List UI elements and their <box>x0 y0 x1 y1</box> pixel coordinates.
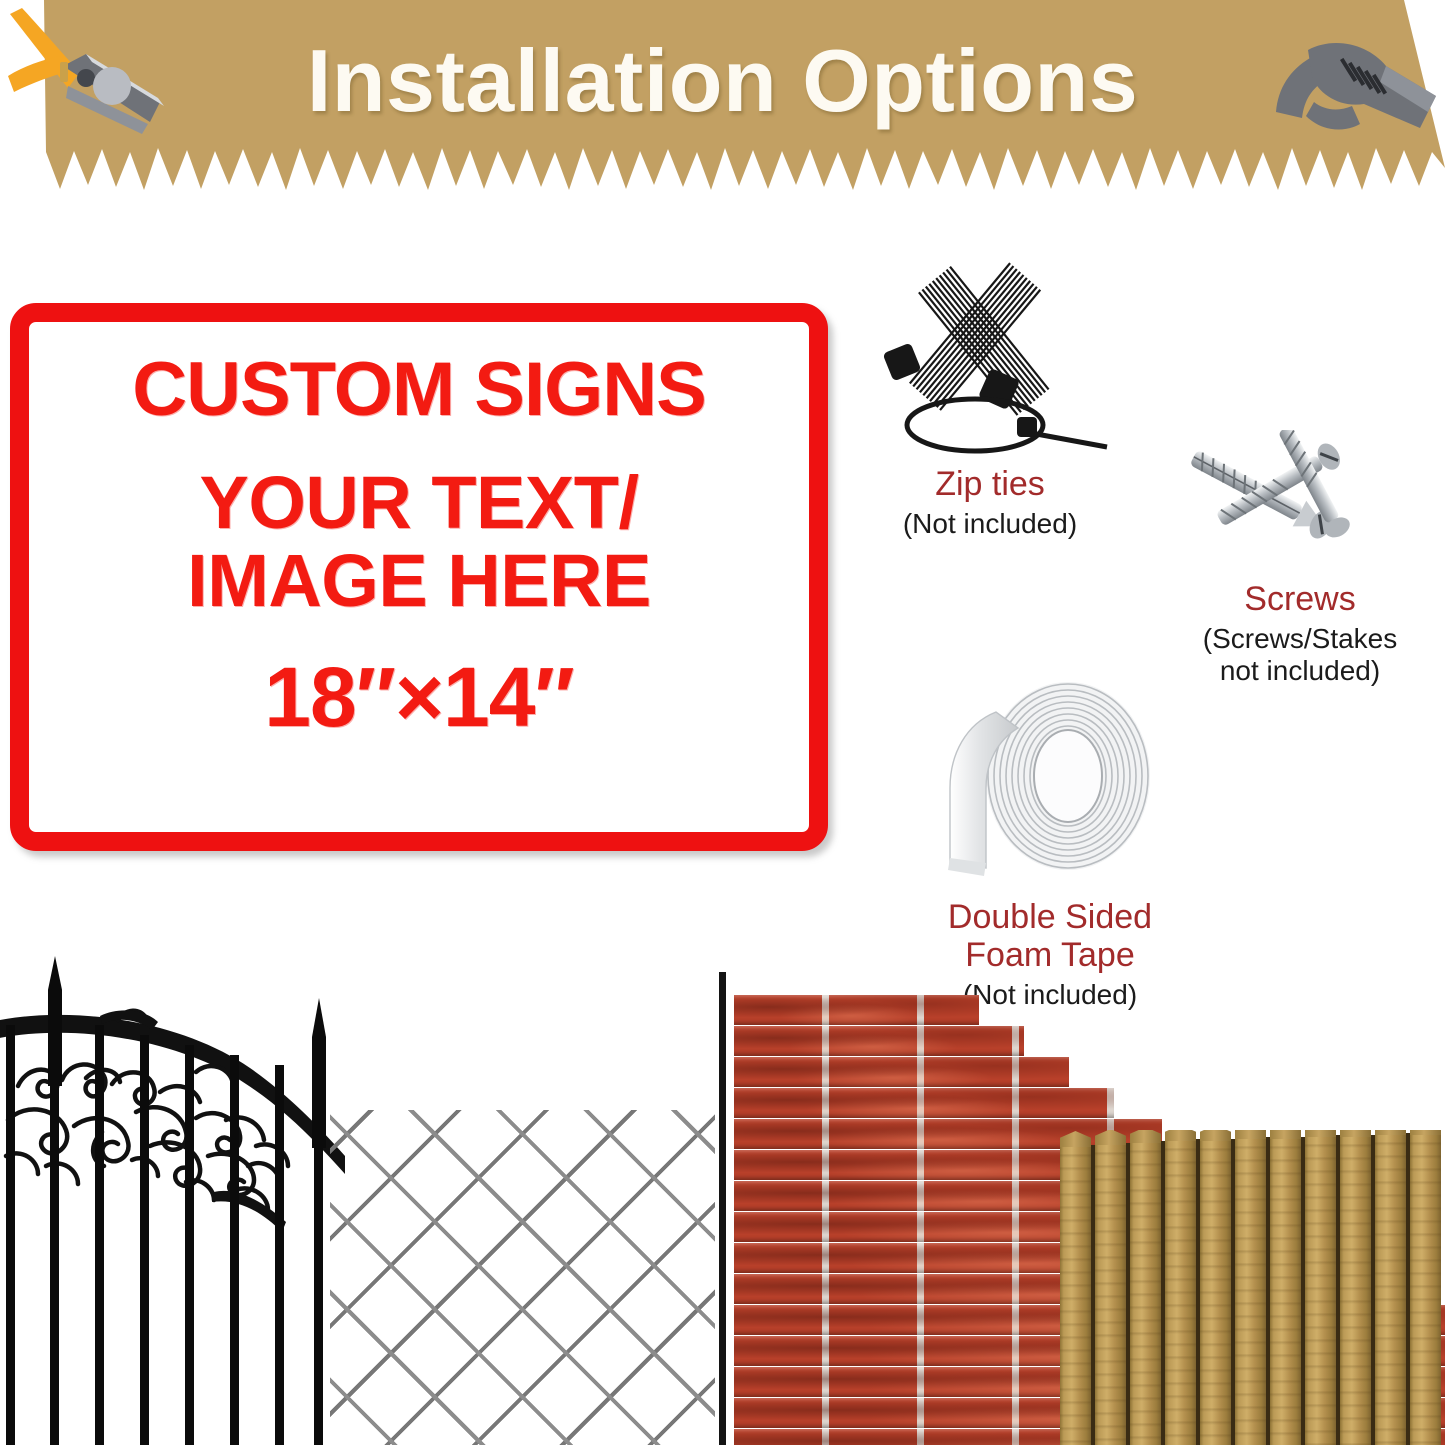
installation-surfaces <box>0 940 1445 1445</box>
custom-sign-preview[interactable]: CUSTOM SIGNS YOUR TEXT/ IMAGE HERE 18″×1… <box>10 303 828 851</box>
sign-subheading-line1: YOUR TEXT/ <box>199 464 638 542</box>
gate-bar <box>6 1025 15 1445</box>
sign-dimensions: 18″×14″ <box>264 655 573 739</box>
gate-bar <box>185 1045 194 1445</box>
sign-heading: CUSTOM SIGNS <box>132 352 706 428</box>
hardware-option-zip-ties: Zip ties (Not included) <box>835 255 1145 540</box>
gate-bar <box>95 1025 104 1445</box>
zip-ties-availability: (Not included) <box>835 508 1145 540</box>
foam-tape-label-line1: Double Sided <box>900 898 1200 936</box>
chain-link-fence <box>330 1110 715 1445</box>
installation-options-infographic: Installation Options CUSTOM SIGNS YOUR T… <box>0 0 1445 1445</box>
header-banner: Installation Options <box>0 0 1445 225</box>
foam-tape-roll-icon <box>900 668 1200 898</box>
wrought-iron-gate <box>0 960 350 1445</box>
zip-ties-label: Zip ties <box>835 465 1145 503</box>
scene-divider <box>719 972 726 1445</box>
page-title: Installation Options <box>0 30 1445 132</box>
hardware-option-screws: Screws (Screws/Stakes not included) <box>1155 430 1445 687</box>
screws-label: Screws <box>1155 580 1445 618</box>
screws-availability-line1: (Screws/Stakes <box>1155 623 1445 655</box>
sign-subheading-line2: IMAGE HERE <box>187 542 651 620</box>
gate-bar <box>140 1035 149 1445</box>
gate-bar <box>275 1065 284 1445</box>
sign-content: CUSTOM SIGNS YOUR TEXT/ IMAGE HERE 18″×1… <box>29 322 809 832</box>
zip-ties-icon <box>835 255 1145 465</box>
screws-icon <box>1155 430 1445 580</box>
wood-picket-fence <box>1060 1130 1445 1445</box>
gate-bar <box>230 1055 239 1445</box>
